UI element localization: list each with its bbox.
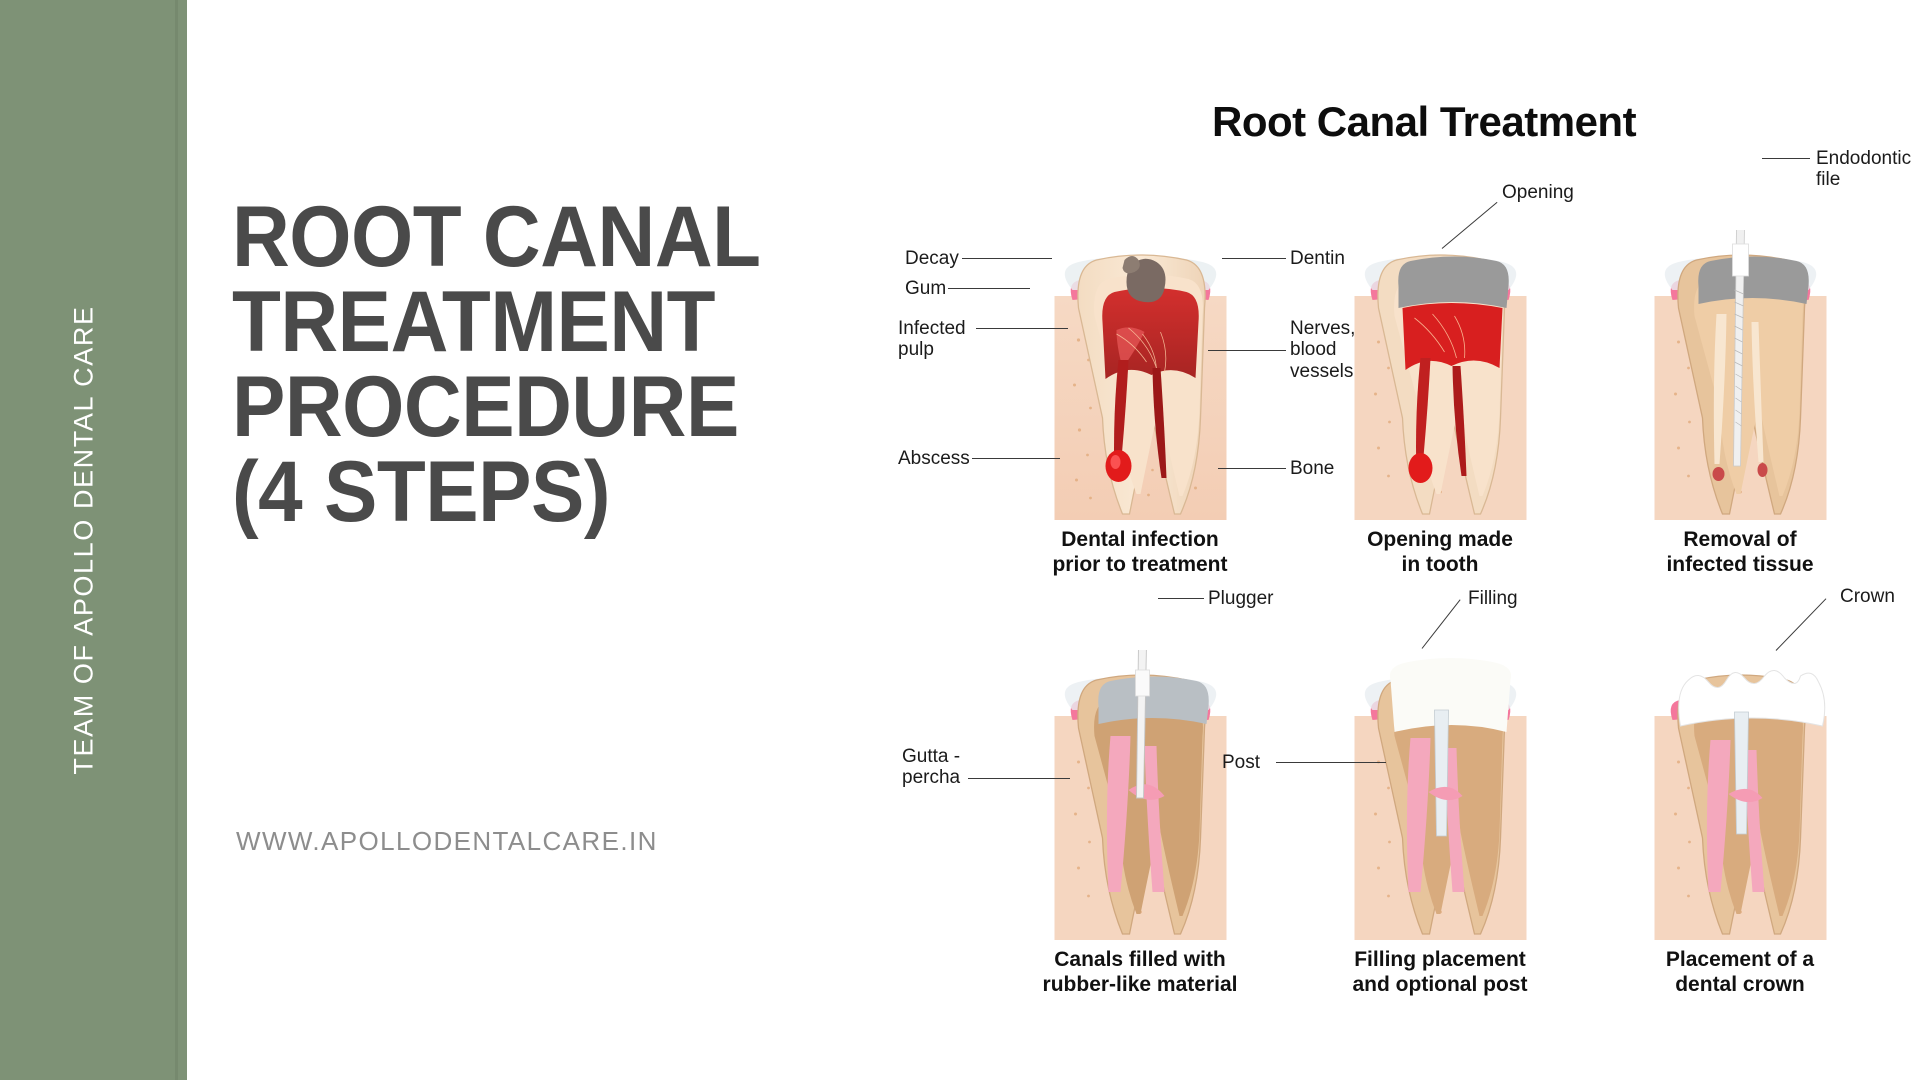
page-title: ROOT CANAL TREATMENT PROCEDURE (4 STEPS) (232, 195, 883, 536)
step-1-caption: Dental infection prior to treatment (990, 528, 1290, 578)
callout-label-gutta-percha: Gutta - percha (902, 746, 960, 789)
callout-label-endodontic-file: Endodontic file (1816, 148, 1911, 191)
page-title-line-2: TREATMENT (232, 280, 883, 365)
tooth-illustration-removal (1633, 230, 1848, 520)
diagram-title: Root Canal Treatment (1212, 98, 1636, 146)
step-1-caption-line-1: Dental infection (990, 528, 1290, 553)
callout-label-file: file (1816, 169, 1840, 190)
leader-line-crown (1776, 598, 1827, 650)
callout-label-abscess: Abscess (898, 448, 970, 469)
step-3-caption: Removal of infected tissue (1590, 528, 1890, 578)
page-title-line-1: ROOT CANAL (232, 195, 883, 280)
step-6-caption-line-1: Placement of a (1590, 948, 1890, 973)
leader-line-gutta-percha (968, 778, 1070, 779)
callout-label-plugger: Plugger (1208, 588, 1274, 609)
step-3-caption-line-1: Removal of (1590, 528, 1890, 553)
diagram-step-3: Endodontic file Removal of infected tiss… (1590, 170, 1890, 570)
leader-line-filling (1422, 599, 1461, 648)
step-2-caption-line-1: Opening made (1290, 528, 1590, 553)
callout-label-percha: percha (902, 767, 960, 788)
diagram-step-2: Opening Opening made in tooth (1290, 170, 1590, 570)
callout-label-infected-pulp: Infected pulp (898, 318, 966, 361)
tooth-illustration-crown (1633, 650, 1848, 940)
callout-label-gutta: Gutta - (902, 746, 960, 767)
diagram-step-6: Crown Placement of a dental crown (1590, 590, 1890, 990)
step-6-caption-line-2: dental crown (1590, 973, 1890, 998)
callout-label-opening: Opening (1502, 182, 1574, 203)
step-5-caption: Filling placement and optional post (1290, 948, 1590, 998)
callout-label-decay: Decay (905, 248, 959, 269)
callout-label-filling: Filling (1468, 588, 1518, 609)
callout-label-gum: Gum (905, 278, 946, 299)
leader-line-gum (948, 288, 1030, 289)
sidebar-divider-stripe (175, 0, 178, 1080)
leader-line-plugger (1158, 598, 1204, 599)
leader-line-abscess (972, 458, 1060, 459)
callout-label-post: Post (1222, 752, 1260, 773)
leader-line-post (1276, 762, 1386, 763)
callout-label-endodontic: Endodontic (1816, 148, 1911, 169)
step-5-caption-line-2: and optional post (1290, 973, 1590, 998)
page-title-line-4: (4 STEPS) (232, 450, 883, 535)
diagram-step-4: Plugger Gutta - percha Canals filled wit… (990, 590, 1290, 990)
step-3-caption-line-2: infected tissue (1590, 553, 1890, 578)
step-6-caption: Placement of a dental crown (1590, 948, 1890, 998)
leader-line-dentin (1222, 258, 1286, 259)
leader-line-infected-pulp (976, 328, 1068, 329)
website-url: WWW.APOLLODENTALCARE.IN (236, 826, 658, 857)
leader-line-bone (1218, 468, 1286, 469)
leader-line-decay (962, 258, 1052, 259)
leader-line-endodontic-file (1762, 158, 1810, 159)
root-canal-diagram: Root Canal Treatment (1000, 80, 1920, 1010)
callout-label-infected: Infected (898, 318, 966, 339)
step-2-caption: Opening made in tooth (1290, 528, 1590, 578)
callout-label-crown: Crown (1840, 586, 1895, 607)
step-2-caption-line-2: in tooth (1290, 553, 1590, 578)
step-1-caption-line-2: prior to treatment (990, 553, 1290, 578)
diagram-step-5: Filling Post Filling placement and optio… (1290, 590, 1590, 990)
sidebar-vertical-label: TEAM OF APOLLO DENTAL CARE (68, 305, 99, 774)
page-title-line-3: PROCEDURE (232, 365, 883, 450)
step-4-caption: Canals filled with rubber-like material (990, 948, 1290, 998)
brand-sidebar: TEAM OF APOLLO DENTAL CARE (0, 0, 187, 1080)
tooth-illustration-opening (1333, 230, 1548, 520)
step-5-caption-line-1: Filling placement (1290, 948, 1590, 973)
tooth-illustration-infection (1033, 230, 1248, 520)
step-4-caption-line-2: rubber-like material (990, 973, 1290, 998)
diagram-step-1: Decay Gum Infected pulp Abscess Dentin N… (990, 170, 1290, 570)
leader-line-nerves (1208, 350, 1286, 351)
tooth-illustration-canals-filled (1033, 650, 1248, 940)
tooth-illustration-filling (1333, 650, 1548, 940)
step-4-caption-line-1: Canals filled with (990, 948, 1290, 973)
callout-label-pulp: pulp (898, 339, 934, 360)
